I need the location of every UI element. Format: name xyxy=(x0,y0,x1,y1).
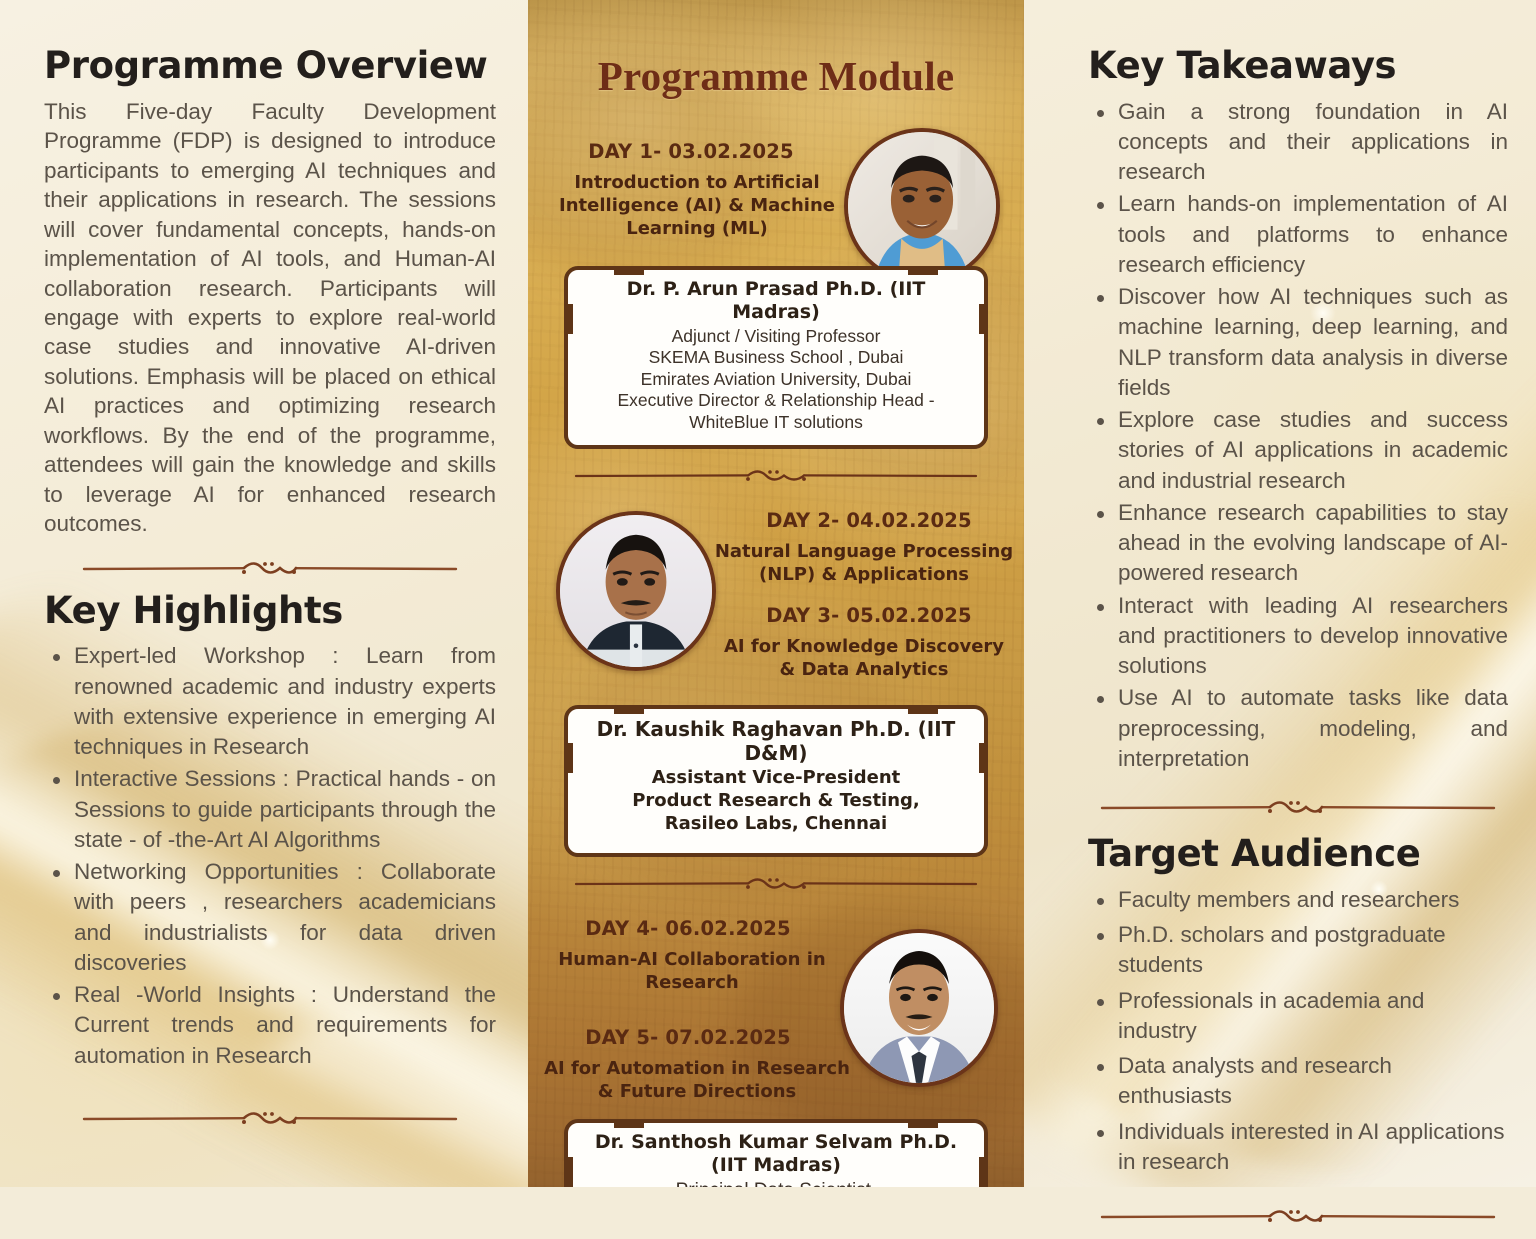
card-notch xyxy=(979,304,988,334)
programme-overview-paragraph: This Five-day Faculty Development Progra… xyxy=(44,97,496,539)
speaker-detail: Rasileo Labs, Chennai xyxy=(580,813,972,836)
list-item: Explore case studies and success stories… xyxy=(1118,405,1508,496)
card-notch xyxy=(564,304,573,334)
list-item: Interact with leading AI researchers and… xyxy=(1118,591,1508,682)
day-topic-2: AI for Knowledge Discovery & Data Analyt… xyxy=(714,635,1014,681)
speaker-detail: Emirates Aviation University, Dubai xyxy=(580,369,972,391)
right-column: Key Takeaways Gain a strong foundation i… xyxy=(1088,46,1508,1239)
card-notch xyxy=(564,743,573,773)
card-notch xyxy=(908,1119,938,1128)
card-notch xyxy=(614,266,644,275)
ornamental-divider-right-2 xyxy=(1088,1203,1508,1229)
ornament-icon xyxy=(1088,794,1508,820)
card-face: Dr. P. Arun Prasad Ph.D. (IIT Madras) Ad… xyxy=(564,266,988,449)
card-face: Dr. Kaushik Raghavan Ph.D. (IIT D&M) Ass… xyxy=(564,705,988,857)
day-label-2: DAY 5- 07.02.2025 xyxy=(528,1026,848,1049)
speaker-card-3: Dr. Santhosh Kumar Selvam Ph.D. (IIT Mad… xyxy=(564,1119,988,1187)
ornament-icon xyxy=(562,465,990,487)
list-item: Gain a strong foundation in AI concepts … xyxy=(1118,97,1508,188)
key-highlights-list: Expert-led Workshop : Learn from renowne… xyxy=(44,641,496,1071)
module-block-day-1: DAY 1- 03.02.2025 Introduction to Artifi… xyxy=(528,140,1024,258)
card-notch xyxy=(979,743,988,773)
portrait-image xyxy=(560,515,712,667)
speaker-detail: Principal Data Scientist, xyxy=(580,1179,972,1187)
card-notch xyxy=(564,1157,573,1187)
list-item: Discover how AI techniques such as machi… xyxy=(1118,282,1508,403)
day-label: DAY 4- 06.02.2025 xyxy=(528,917,848,940)
module-block-day-4-5: DAY 4- 06.02.2025 Human-AI Collaboration… xyxy=(528,917,1024,1109)
day-topic: Natural Language Processing (NLP) & Appl… xyxy=(714,540,1014,586)
speaker-detail: Assistant Vice-President xyxy=(580,767,972,790)
speaker-detail: Adjunct / Visiting Professor xyxy=(580,326,972,348)
speaker-detail: WhiteBlue IT solutions xyxy=(580,412,972,434)
portrait-image xyxy=(848,132,996,280)
speaker-card-1: Dr. P. Arun Prasad Ph.D. (IIT Madras) Ad… xyxy=(564,266,988,449)
speaker-name: Dr. Santhosh Kumar Selvam Ph.D. (IIT Mad… xyxy=(580,1131,972,1177)
ornament-icon xyxy=(562,873,990,895)
speaker-detail: SKEMA Business School , Dubai xyxy=(580,347,972,369)
list-item: Interactive Sessions : Practical hands -… xyxy=(74,764,496,855)
list-item: Enhance research capabilities to stay ah… xyxy=(1118,498,1508,589)
speaker-name: Dr. P. Arun Prasad Ph.D. (IIT Madras) xyxy=(580,278,972,324)
list-item: Faculty members and researchers xyxy=(1118,885,1508,915)
target-audience-list: Faculty members and researchers Ph.D. sc… xyxy=(1088,885,1508,1177)
ornamental-divider-right-1 xyxy=(1088,794,1508,820)
speaker-name: Dr. Kaushik Raghavan Ph.D. (IIT D&M) xyxy=(580,717,972,765)
programme-module-panel: Programme Module xyxy=(528,0,1024,1187)
list-item: Use AI to automate tasks like data prepr… xyxy=(1118,683,1508,774)
day-label-2: DAY 3- 05.02.2025 xyxy=(714,604,1024,627)
ornamental-divider-left-2 xyxy=(44,1105,496,1131)
list-item: Ph.D. scholars and postgraduate students xyxy=(1118,920,1508,981)
speaker-detail: Executive Director & Relationship Head - xyxy=(580,390,972,412)
speaker-card-2: Dr. Kaushik Raghavan Ph.D. (IIT D&M) Ass… xyxy=(564,705,988,857)
day-topic: Introduction to Artificial Intelligence … xyxy=(540,171,854,240)
speaker-photo-santhosh-kumar-selvam xyxy=(840,929,998,1087)
ornament-icon xyxy=(44,555,496,581)
day-label: DAY 2- 04.02.2025 xyxy=(714,509,1024,532)
speaker-photo-kaushik-raghavan xyxy=(556,511,716,671)
day-label: DAY 1- 03.02.2025 xyxy=(528,140,854,163)
list-item: Data analysts and research enthusiasts xyxy=(1118,1051,1508,1112)
list-item: Expert-led Workshop : Learn from renowne… xyxy=(74,641,496,762)
speaker-photo-arun-prasad xyxy=(844,128,1000,284)
ornamental-divider-panel-1 xyxy=(562,465,990,487)
key-takeaways-list: Gain a strong foundation in AI concepts … xyxy=(1088,97,1508,775)
programme-module-heading: Programme Module xyxy=(528,52,1024,100)
card-notch xyxy=(908,705,938,714)
portrait-image xyxy=(844,933,994,1083)
speaker-detail: Product Research & Testing, xyxy=(580,790,972,813)
programme-overview-title: Programme Overview xyxy=(44,46,496,87)
ornamental-divider-panel-2 xyxy=(562,873,990,895)
card-notch xyxy=(979,1157,988,1187)
list-item: Networking Opportunities : Collaborate w… xyxy=(74,857,496,978)
module-block-day-2-3: DAY 2- 04.02.2025 Natural Language Proce… xyxy=(528,509,1024,699)
card-face: Dr. Santhosh Kumar Selvam Ph.D. (IIT Mad… xyxy=(564,1119,988,1187)
card-notch xyxy=(614,705,644,714)
ornamental-divider-left-1 xyxy=(44,555,496,581)
card-notch xyxy=(908,266,938,275)
day-topic-2: AI for Automation in Research & Future D… xyxy=(536,1057,858,1103)
key-takeaways-title: Key Takeaways xyxy=(1088,46,1508,87)
list-item: Learn hands-on implementation of AI tool… xyxy=(1118,189,1508,280)
list-item: Professionals in academia and industry xyxy=(1118,986,1508,1047)
day-topic: Human-AI Collaboration in Research xyxy=(536,948,848,994)
key-highlights-title: Key Highlights xyxy=(44,591,496,632)
list-item: Real -World Insights : Understand the Cu… xyxy=(74,980,496,1071)
panel-content: Programme Module xyxy=(528,52,1024,1187)
left-column: Programme Overview This Five-day Faculty… xyxy=(44,46,496,1141)
list-item: Individuals interested in AI application… xyxy=(1118,1117,1508,1178)
ornament-icon xyxy=(1088,1203,1508,1229)
card-notch xyxy=(614,1119,644,1128)
target-audience-title: Target Audience xyxy=(1088,834,1508,875)
ornament-icon xyxy=(44,1105,496,1131)
